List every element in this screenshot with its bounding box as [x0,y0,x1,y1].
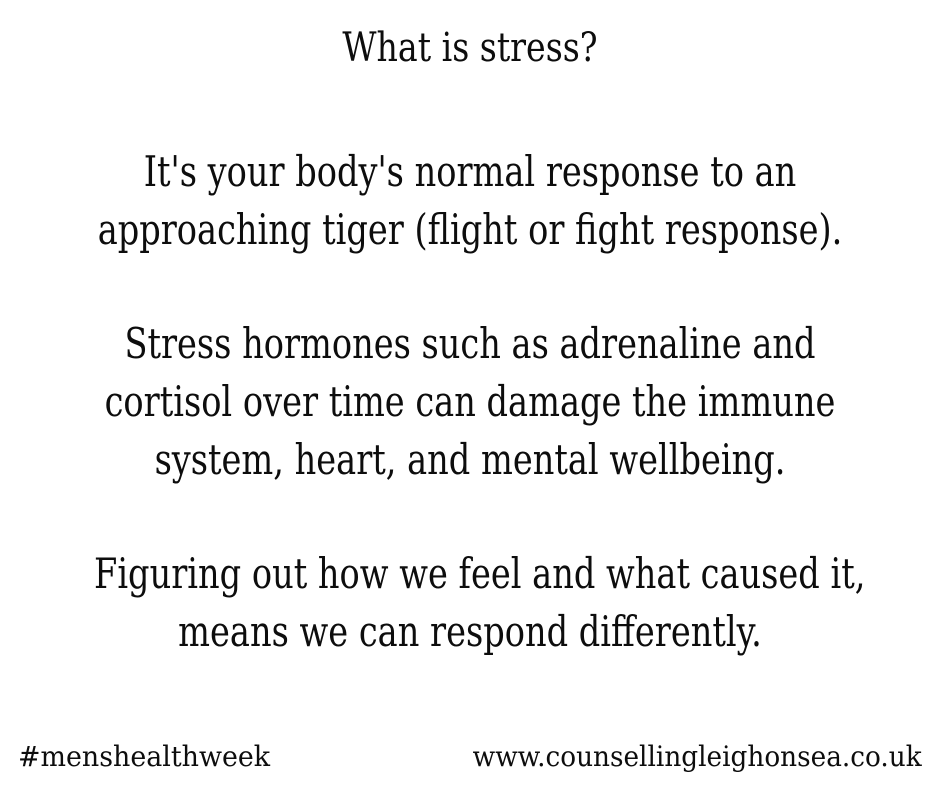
paragraph-response: Figuring out how we feel and what caused… [94,545,846,661]
poster-canvas: What is stress? It's your body's normal … [0,0,940,788]
paragraph-line: system, heart, and mental wellbeing. [94,431,846,489]
paragraph-line: approaching tiger (flight or fight respo… [94,201,846,259]
page-title: What is stress? [80,24,860,72]
body-text-block: It's your body's normal response to an a… [0,143,940,661]
paragraph-line: Stress hormones such as adrenaline and [94,315,846,373]
paragraph-definition: It's your body's normal response to an a… [94,143,846,259]
paragraph-line: means we can respond differently. [94,603,846,661]
footer: #menshealthweek www.counsellingleighonse… [0,728,940,774]
paragraph-line: cortisol over time can damage the immune [94,373,846,431]
paragraph-line: It's your body's normal response to an [94,143,846,201]
footer-website-url: www.counsellingleighonsea.co.uk [473,740,922,774]
footer-hashtag: #menshealthweek [18,740,270,774]
paragraph-line: Figuring out how we feel and what caused… [94,545,846,603]
paragraph-hormones: Stress hormones such as adrenaline and c… [94,315,846,489]
